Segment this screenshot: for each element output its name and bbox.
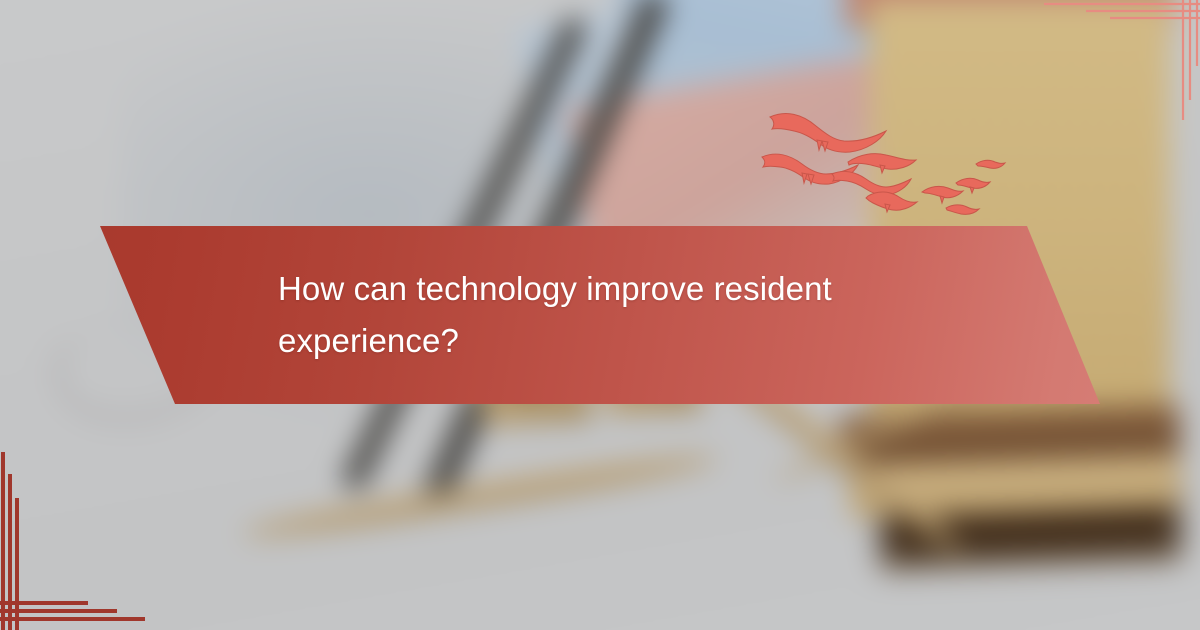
- headline-line-2: experience?: [278, 315, 1010, 367]
- banner-card: How can technology improve resident expe…: [0, 0, 1200, 630]
- headline-banner-text: How can technology improve resident expe…: [0, 226, 1200, 404]
- headline-line-1: How can technology improve resident: [278, 263, 1010, 315]
